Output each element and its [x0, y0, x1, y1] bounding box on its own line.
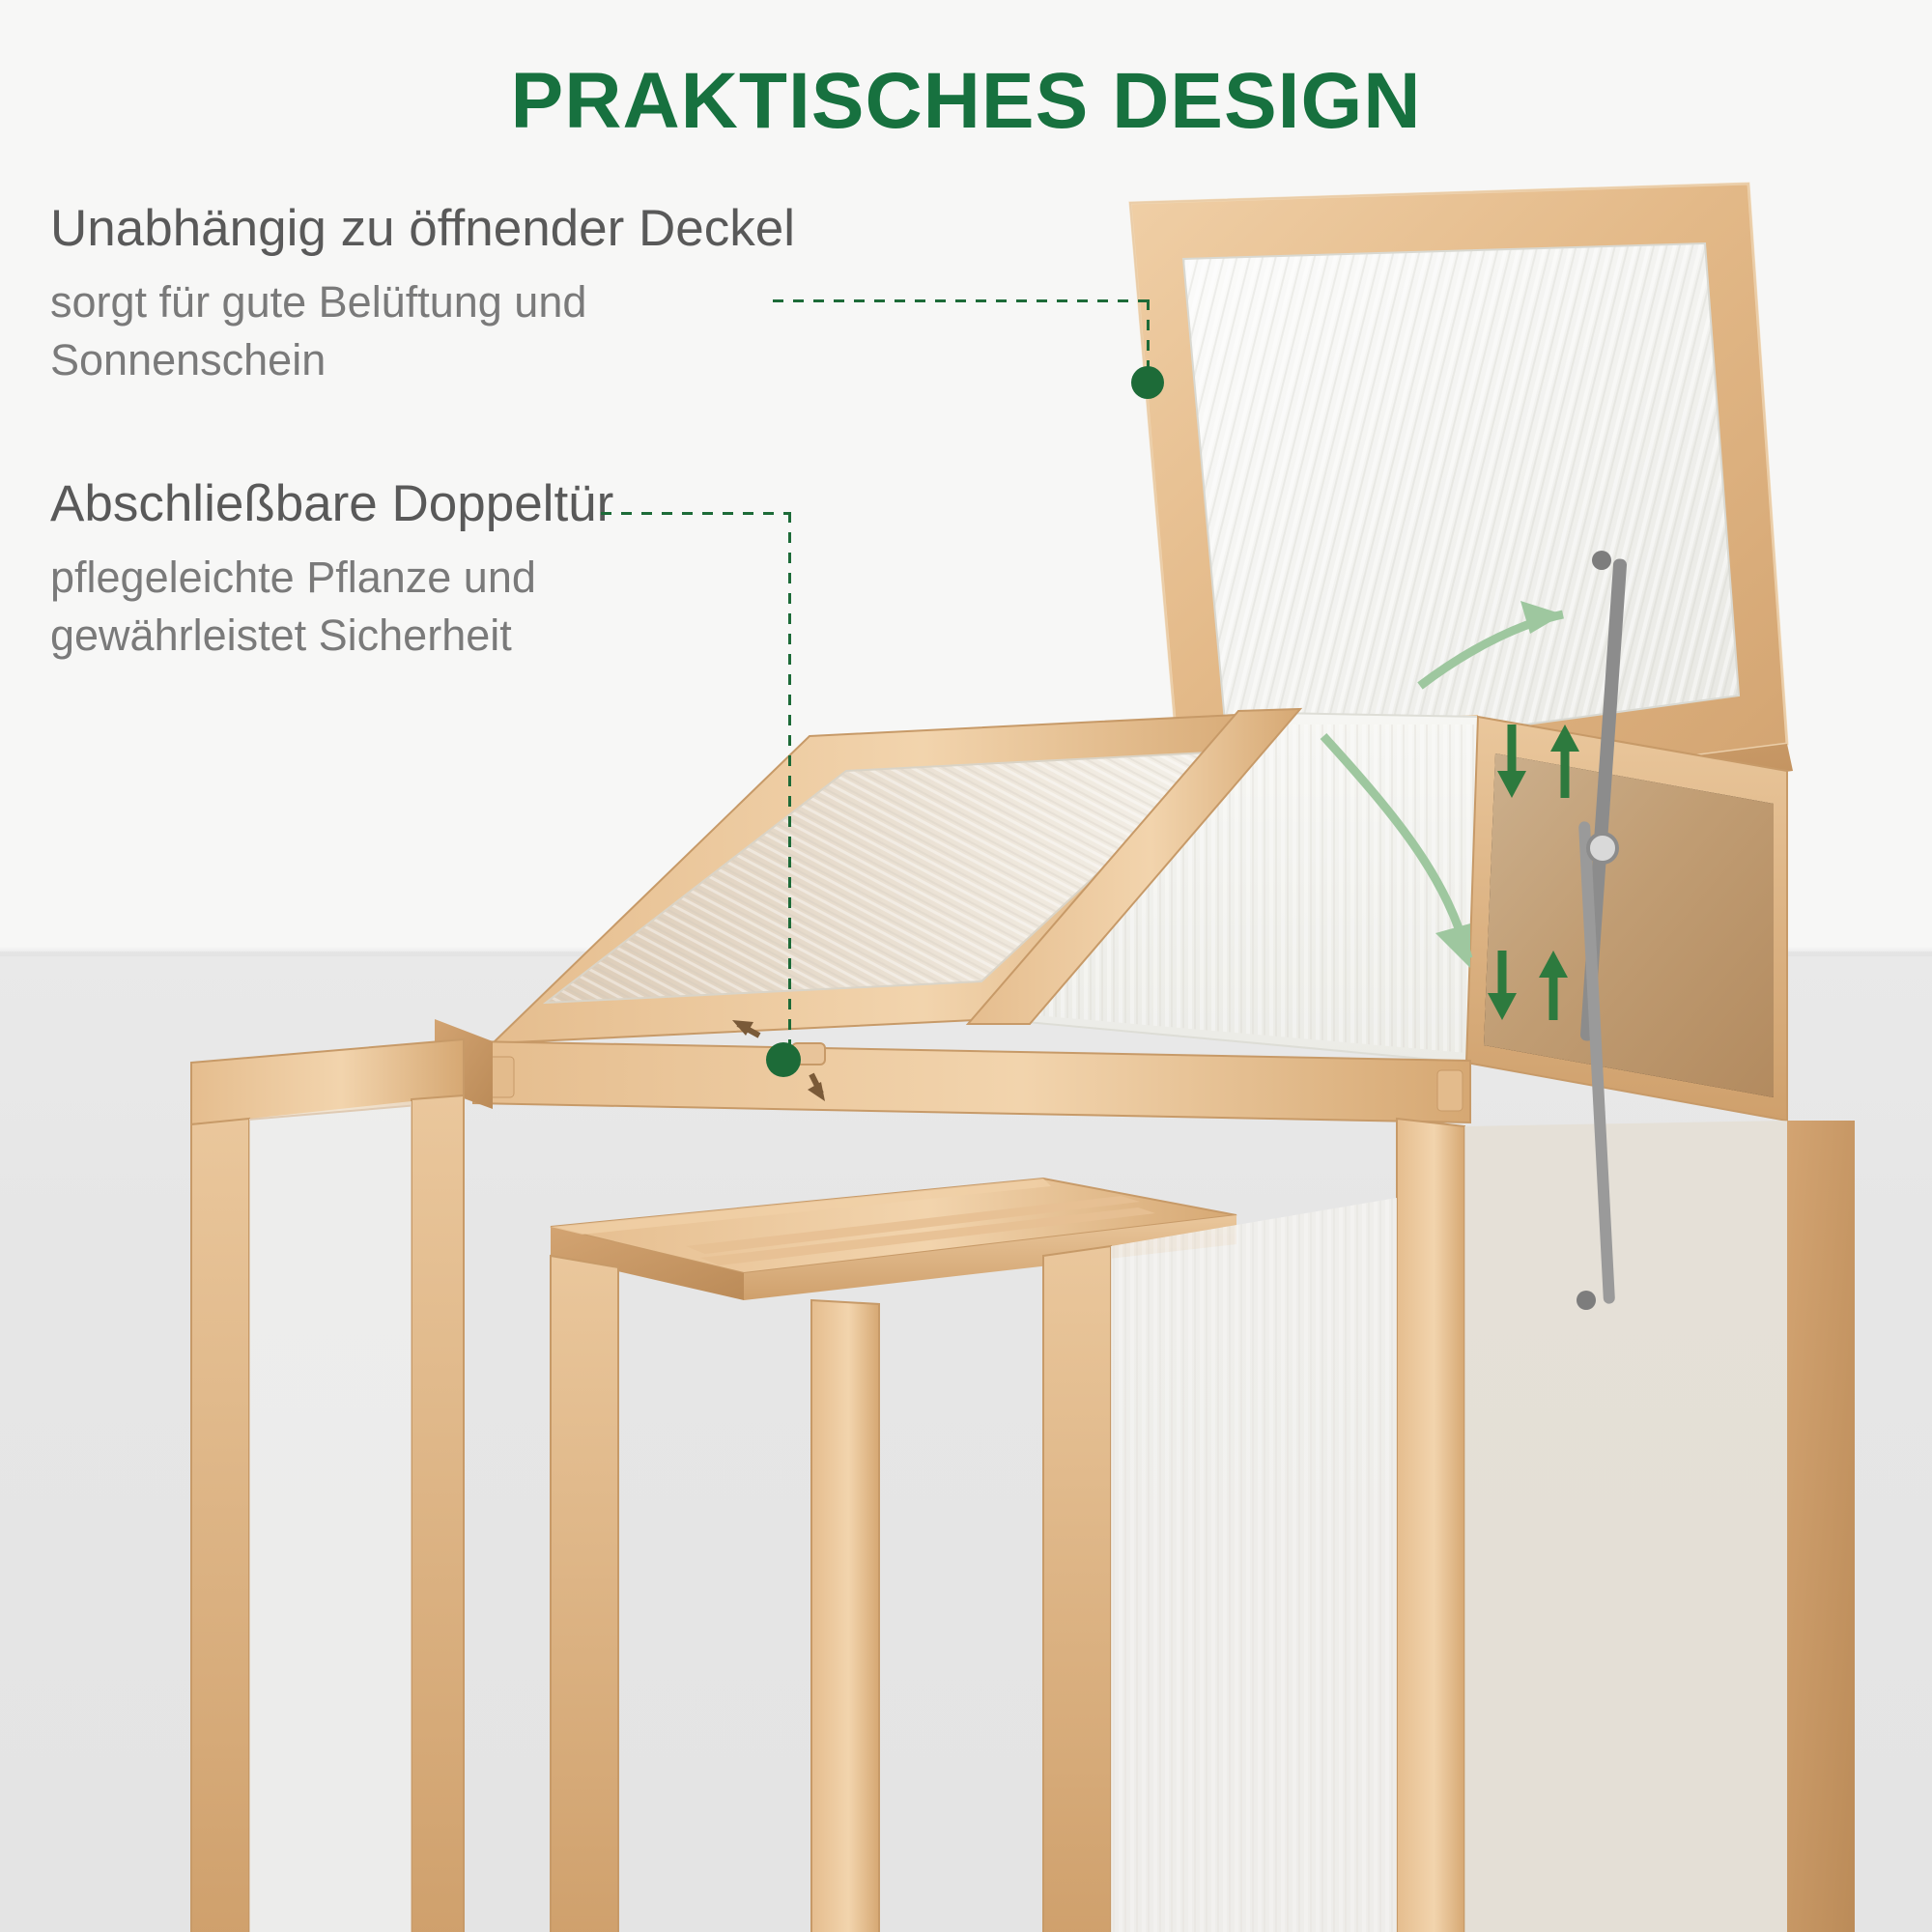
page-title: PRAKTISCHES DESIGN: [0, 56, 1932, 147]
callout-door-body-line-2: gewährleistet Sicherheit: [50, 607, 613, 665]
callout-door: Abschließbare Doppeltür pflegeleichte Pf…: [50, 476, 613, 665]
leader-line-lid-vertical: [1147, 299, 1150, 375]
leader-line-door-vertical: [788, 512, 791, 1058]
callout-lid-body-line-2: Sonnenschein: [50, 331, 795, 389]
callout-door-heading: Abschließbare Doppeltür: [50, 476, 613, 532]
lower-panel-right: [1464, 1121, 1787, 1932]
callout-lid-body: sorgt für gute Belüftung und Sonnenschei…: [50, 273, 795, 389]
callout-lid-heading: Unabhängig zu öffnender Deckel: [50, 201, 795, 257]
callout-door-body: pflegeleichte Pflanze und gewährleistet …: [50, 549, 613, 665]
leader-line-door-horizontal: [601, 512, 790, 515]
product-illustration: [145, 145, 1932, 1932]
leader-line-lid-horizontal: [773, 299, 1150, 302]
green-dot-icon-door: [766, 1042, 801, 1077]
callout-lid-body-line-1: sorgt für gute Belüftung und: [50, 273, 795, 331]
green-dot-icon-lid: [1131, 366, 1164, 399]
door-left-open: [184, 1039, 464, 1932]
callout-door-body-line-1: pflegeleichte Pflanze und: [50, 549, 613, 607]
infographic-canvas: PRAKTISCHES DESIGN Unabhängig zu öffnend…: [0, 0, 1932, 1932]
callout-lid: Unabhängig zu öffnender Deckel sorgt für…: [50, 201, 795, 389]
box-base-rail: [473, 1041, 1470, 1122]
